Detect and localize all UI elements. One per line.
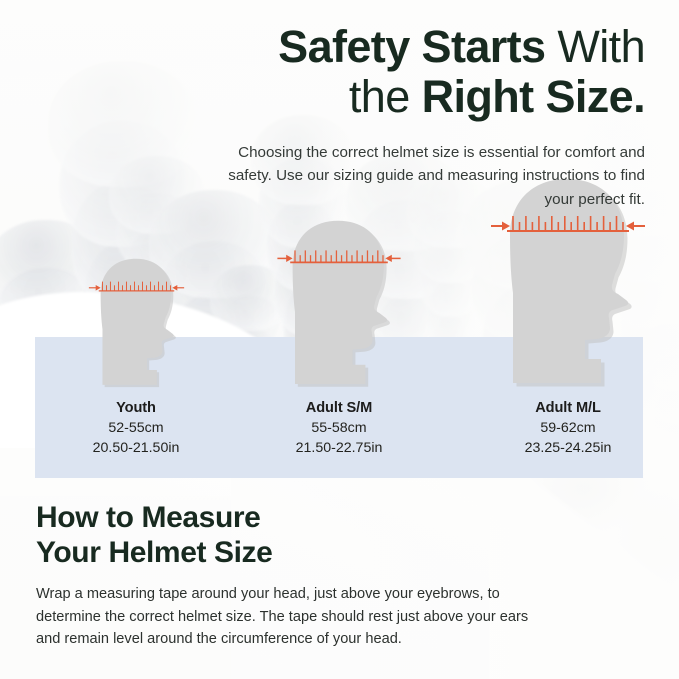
header-subcopy: Choosing the correct helmet size is esse… xyxy=(215,141,645,211)
tape-arrow-right xyxy=(172,285,184,291)
how-to-measure-body: Wrap a measuring tape around your head, … xyxy=(36,583,536,651)
head-profile-shape xyxy=(293,221,388,384)
size-caption-youth: Youth52-55cm20.50-21.50in xyxy=(46,398,226,458)
size-cm-adult-ml: 59-62cm xyxy=(478,418,658,438)
howto-title-line1: How to Measure xyxy=(36,501,260,534)
tape-arrow-right xyxy=(626,222,645,231)
how-to-measure-title: How to Measure Your Helmet Size xyxy=(36,500,556,570)
tape-arrow-left xyxy=(88,285,100,291)
size-cm-youth: 52-55cm xyxy=(46,418,226,438)
page-title: Safety Starts With the Right Size. xyxy=(215,22,645,121)
size-caption-adult-sm: Adult S/M55-58cm21.50-22.75in xyxy=(249,398,429,458)
head-silhouette-adult-sm xyxy=(279,216,399,388)
tape-arrow-right xyxy=(385,255,400,262)
tape-arrow-left xyxy=(277,255,292,262)
how-to-measure-block: How to Measure Your Helmet Size Wrap a m… xyxy=(36,500,556,651)
size-name-adult-ml: Adult M/L xyxy=(478,398,658,418)
size-cm-adult-sm: 55-58cm xyxy=(249,418,429,438)
size-caption-adult-ml: Adult M/L59-62cm23.25-24.25in xyxy=(478,398,658,458)
howto-title-line2: Your Helmet Size xyxy=(36,536,272,569)
head-unit-adult-sm xyxy=(279,216,399,388)
page-root: Safety Starts With the Right Size. Choos… xyxy=(0,0,679,679)
headline-part-with: With xyxy=(557,21,645,72)
header-block: Safety Starts With the Right Size. Choos… xyxy=(215,22,645,211)
size-inches-adult-ml: 23.25-24.25in xyxy=(478,438,658,458)
head-silhouette-row xyxy=(0,240,679,400)
tape-arrow-left xyxy=(491,222,510,231)
head-profile-shape xyxy=(100,259,173,385)
size-name-adult-sm: Adult S/M xyxy=(249,398,429,418)
headline-part-safety-starts: Safety Starts xyxy=(278,21,545,72)
headline-part-right-size: Right Size. xyxy=(422,71,645,122)
size-caption-row: Youth52-55cm20.50-21.50inAdult S/M55-58c… xyxy=(35,398,643,476)
head-unit-youth xyxy=(90,255,183,388)
headline-part-the: the xyxy=(349,71,410,122)
size-inches-youth: 20.50-21.50in xyxy=(46,438,226,458)
size-inches-adult-sm: 21.50-22.75in xyxy=(249,438,429,458)
head-silhouette-youth xyxy=(90,255,183,388)
size-name-youth: Youth xyxy=(46,398,226,418)
